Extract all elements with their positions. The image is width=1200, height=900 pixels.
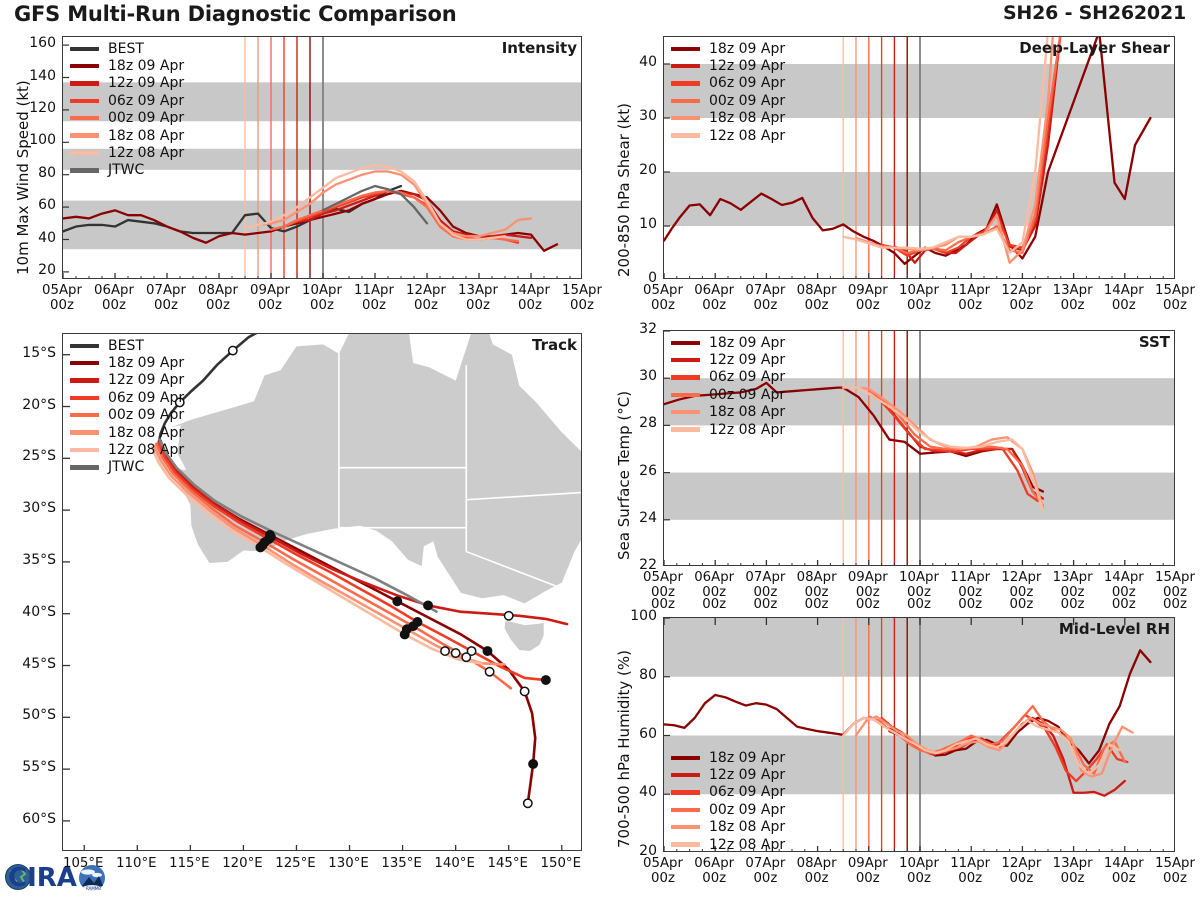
axis-tick-label: 06Apr00z	[686, 857, 742, 887]
track-marker-open	[441, 647, 449, 655]
axis-tick-label: 30°S	[4, 500, 56, 516]
shear-panel-label: Deep-Layer Shear	[1019, 39, 1170, 57]
axis-tick-label: 12Apr00z	[993, 857, 1049, 887]
axis-tick-label: 25°S	[4, 448, 56, 464]
legend-swatch	[70, 116, 99, 120]
legend-entry: 12z 09 Apr	[671, 766, 785, 783]
axis-tick-label: 00z	[848, 598, 888, 613]
legend-entry: 06z 09 Apr	[70, 92, 184, 109]
axis-tick-label: 00z	[1001, 598, 1041, 613]
legend-label: 12z 09 Apr	[108, 372, 184, 388]
rh-legend: 18z 09 Apr12z 09 Apr06z 09 Apr00z 09 Apr…	[671, 749, 785, 853]
legend-swatch	[671, 341, 700, 345]
track-marker-filled	[256, 543, 264, 551]
axis-tick-label: 11Apr00z	[942, 284, 998, 314]
axis-tick-label: 09Apr00z	[840, 284, 896, 314]
legend-label: 12z 09 Apr	[709, 767, 785, 783]
legend-swatch	[671, 133, 700, 137]
axis-tick-label: 40	[617, 54, 657, 70]
legend-label: 18z 08 Apr	[709, 404, 785, 420]
legend-label: 18z 09 Apr	[709, 750, 785, 766]
legend-entry: 18z 09 Apr	[671, 334, 785, 351]
axis-tick-label: 120°E	[214, 857, 270, 872]
legend-swatch	[671, 842, 700, 846]
axis-tick-label: 35°S	[4, 552, 56, 568]
axis-tick-label: 40	[617, 784, 657, 800]
axis-tick-label: 00z	[1104, 598, 1144, 613]
axis-tick-label: 40	[16, 230, 56, 246]
track-marker-filled	[401, 630, 409, 638]
axis-tick-label: 30	[617, 368, 657, 384]
legend-swatch	[671, 808, 700, 812]
page-title: GFS Multi-Run Diagnostic Comparison	[14, 2, 456, 26]
legend-entry: 06z 09 Apr	[671, 784, 785, 801]
legend-label: 12z 08 Apr	[108, 442, 184, 458]
axis-tick-label: 00z	[1155, 598, 1195, 613]
legend-swatch	[70, 99, 99, 103]
legend-entry: 12z 08 Apr	[671, 127, 785, 144]
legend-label: 00z 09 Apr	[108, 407, 184, 423]
legend-entry: 12z 08 Apr	[70, 144, 184, 161]
axis-tick-label: 60°S	[4, 811, 56, 827]
axis-tick-label: 00z	[694, 598, 734, 613]
legend-swatch	[671, 375, 700, 379]
panel-sst: SST 18z 09 Apr12z 09 Apr06z 09 Apr00z 09…	[663, 330, 1175, 566]
axis-tick-label: 110°E	[108, 857, 164, 872]
legend-entry: 18z 08 Apr	[671, 404, 785, 421]
legend-swatch	[671, 47, 700, 51]
legend-swatch	[70, 344, 99, 348]
axis-tick-label: 00z	[643, 598, 683, 613]
axis-tick-label: 80	[617, 667, 657, 683]
axis-tick-label: 12Apr00z	[398, 284, 454, 314]
track-marker-filled	[424, 601, 432, 609]
legend-label: 18z 09 Apr	[709, 335, 785, 351]
axis-tick-label: 13Apr00z	[1045, 857, 1101, 887]
axis-tick-label: 00z	[899, 598, 939, 613]
axis-tick-label: 20°S	[4, 397, 56, 413]
legend-entry: 12z 09 Apr	[70, 372, 184, 389]
axis-tick-label: 12Apr00z	[993, 284, 1049, 314]
legend-label: 00z 09 Apr	[709, 387, 785, 403]
rh-panel-label: Mid-Level RH	[1059, 620, 1170, 638]
legend-label: 00z 09 Apr	[709, 93, 785, 109]
legend-swatch	[70, 81, 99, 85]
track-marker-filled	[542, 676, 550, 684]
axis-tick-label: 24	[617, 510, 657, 526]
landmass	[171, 334, 582, 603]
legend-label: 18z 09 Apr	[709, 41, 785, 57]
axis-tick-label: 14Apr00z	[1096, 284, 1152, 314]
axis-tick-label: 10	[617, 216, 657, 232]
legend-entry: 00z 09 Apr	[70, 407, 184, 424]
legend-entry: 00z 09 Apr	[70, 110, 184, 127]
legend-label: 12z 08 Apr	[709, 128, 785, 144]
legend-label: 18z 09 Apr	[108, 355, 184, 371]
legend-label: JTWC	[108, 162, 144, 178]
legend-label: 12z 09 Apr	[709, 352, 785, 368]
axis-tick-label: 09Apr00z	[840, 857, 896, 887]
legend-swatch	[70, 413, 99, 417]
axis-tick-label: 05Apr00z	[34, 284, 90, 314]
legend-label: 12z 09 Apr	[709, 58, 785, 74]
axis-tick-label: 09Apr00z	[242, 284, 298, 314]
axis-tick-label: 13Apr00z	[450, 284, 506, 314]
legend-label: 06z 09 Apr	[108, 390, 184, 406]
legend-entry: 00z 09 Apr	[671, 92, 785, 109]
legend-label: 06z 09 Apr	[709, 75, 785, 91]
sst-legend: 18z 09 Apr12z 09 Apr06z 09 Apr00z 09 Apr…	[671, 334, 785, 438]
legend-swatch	[671, 790, 700, 794]
legend-label: 06z 09 Apr	[709, 784, 785, 800]
legend-entry: 12z 09 Apr	[671, 351, 785, 368]
intensity-legend: BEST18z 09 Apr12z 09 Apr06z 09 Apr00z 09…	[70, 40, 184, 179]
legend-swatch	[70, 378, 99, 382]
legend-entry: 12z 08 Apr	[70, 441, 184, 458]
legend-entry: BEST	[70, 337, 184, 354]
legend-entry: 12z 09 Apr	[671, 57, 785, 74]
axis-tick-label: 08Apr00z	[789, 857, 845, 887]
legend-label: 00z 09 Apr	[108, 110, 184, 126]
track-marker-filled	[393, 597, 401, 605]
axis-tick-label: 05Apr00z	[635, 857, 691, 887]
shear-legend: 18z 09 Apr12z 09 Apr06z 09 Apr00z 09 Apr…	[671, 40, 785, 144]
axis-tick-label: 05Apr00z	[635, 284, 691, 314]
axis-tick-label: 07Apr00z	[737, 857, 793, 887]
legend-entry: 06z 09 Apr	[671, 369, 785, 386]
legend-entry: 18z 08 Apr	[671, 819, 785, 836]
panel-rh: Mid-Level RH 18z 09 Apr12z 09 Apr06z 09 …	[663, 617, 1175, 852]
axis-tick-label: 10Apr00z	[891, 284, 947, 314]
legend-entry: 18z 09 Apr	[70, 354, 184, 371]
axis-tick-label: 32	[617, 321, 657, 337]
legend-entry: JTWC	[70, 162, 184, 179]
legend-swatch	[70, 396, 99, 400]
axis-tick-label: 20	[16, 262, 56, 278]
axis-tick-label: 28	[617, 415, 657, 431]
legend-label: 12z 08 Apr	[108, 145, 184, 161]
axis-tick-label: 115°E	[161, 857, 217, 872]
legend-label: 18z 08 Apr	[108, 128, 184, 144]
axis-tick-label: 00z	[745, 598, 785, 613]
legend-label: 18z 09 Apr	[108, 58, 184, 74]
storm-identifier: SH26 - SH262021	[1003, 2, 1186, 24]
legend-swatch	[671, 825, 700, 829]
track-marker-open	[462, 653, 470, 661]
panel-shear: Deep-Layer Shear 18z 09 Apr12z 09 Apr06z…	[663, 36, 1175, 279]
legend-swatch	[70, 64, 99, 68]
svg-text:RAMMB: RAMMB	[86, 886, 101, 891]
legend-label: 18z 08 Apr	[709, 819, 785, 835]
legend-entry: 18z 08 Apr	[70, 424, 184, 441]
axis-tick-label: 160	[16, 35, 56, 51]
track-marker-open	[520, 687, 528, 695]
axis-tick-label: 135°E	[374, 857, 430, 872]
axis-tick-label: 14Apr00z	[1096, 857, 1152, 887]
legend-label: 12z 09 Apr	[108, 75, 184, 91]
axis-tick-label: 30	[617, 108, 657, 124]
axis-tick-label: 140	[16, 68, 56, 84]
track-panel-label: Track	[532, 336, 577, 354]
landmass	[505, 621, 544, 651]
legend-entry: 18z 08 Apr	[70, 127, 184, 144]
axis-tick-label: 60	[16, 197, 56, 213]
axis-tick-label: 60	[617, 726, 657, 742]
legend-swatch	[70, 168, 99, 172]
panel-track: Track BEST18z 09 Apr12z 09 Apr06z 09 Apr…	[62, 333, 582, 851]
axis-tick-label: 40°S	[4, 604, 56, 620]
legend-swatch	[70, 151, 99, 155]
legend-swatch	[671, 81, 700, 85]
legend-swatch	[671, 410, 700, 414]
axis-tick-label: 130°E	[321, 857, 377, 872]
legend-swatch	[70, 448, 99, 452]
legend-label: BEST	[108, 41, 144, 57]
legend-label: JTWC	[108, 459, 144, 475]
legend-swatch	[671, 427, 700, 431]
axis-tick-label: 80	[16, 165, 56, 181]
track-marker-open	[524, 799, 532, 807]
axis-tick-label: 140°E	[427, 857, 483, 872]
axis-tick-label: 13Apr00z	[1045, 284, 1101, 314]
legend-label: 18z 08 Apr	[709, 110, 785, 126]
axis-tick-label: 26	[617, 463, 657, 479]
legend-entry: 18z 08 Apr	[671, 110, 785, 127]
track-marker-open	[451, 649, 459, 657]
panel-intensity: Intensity BEST18z 09 Apr12z 09 Apr06z 09…	[62, 36, 582, 279]
legend-entry: 18z 09 Apr	[671, 40, 785, 57]
axis-tick-label: 08Apr00z	[789, 284, 845, 314]
legend-entry: 00z 09 Apr	[671, 386, 785, 403]
legend-label: 18z 08 Apr	[108, 425, 184, 441]
legend-label: 12z 08 Apr	[709, 837, 785, 853]
axis-tick-label: 20	[617, 162, 657, 178]
legend-swatch	[671, 99, 700, 103]
axis-tick-label: 15Apr00z	[554, 284, 610, 314]
axis-tick-label: 15°S	[4, 345, 56, 361]
track-marker-open	[485, 668, 493, 676]
axis-tick-label: 10Apr00z	[891, 857, 947, 887]
axis-tick-label: 00z	[950, 598, 990, 613]
legend-entry: 12z 08 Apr	[671, 421, 785, 438]
track-marker-filled	[529, 760, 537, 768]
legend-label: 06z 09 Apr	[709, 369, 785, 385]
axis-tick-label: 45°S	[4, 656, 56, 672]
diagnostic-page: GFS Multi-Run Diagnostic Comparison SH26…	[0, 0, 1200, 900]
legend-entry: 18z 09 Apr	[70, 57, 184, 74]
legend-swatch	[70, 47, 99, 51]
legend-swatch	[671, 116, 700, 120]
axis-tick-label: 15Apr00z	[1147, 857, 1200, 887]
axis-tick-label: 07Apr00z	[737, 284, 793, 314]
legend-label: 06z 09 Apr	[108, 93, 184, 109]
track-marker-filled	[483, 647, 491, 655]
legend-label: 00z 09 Apr	[709, 802, 785, 818]
cira-logo: CIRA RAMMB	[4, 855, 112, 897]
axis-tick-label: 07Apr00z	[138, 284, 194, 314]
axis-tick-label: 00z	[797, 598, 837, 613]
shear-y-axis-label: 200-850 hPa Shear (kt)	[615, 103, 633, 277]
legend-entry: JTWC	[70, 459, 184, 476]
axis-tick-label: 100	[16, 132, 56, 148]
legend-swatch	[671, 756, 700, 760]
legend-swatch	[671, 393, 700, 397]
axis-tick-label: 00z	[1053, 598, 1093, 613]
axis-tick-label: 11Apr00z	[942, 857, 998, 887]
sst-panel-label: SST	[1139, 333, 1170, 351]
axis-tick-label: 14Apr00z	[502, 284, 558, 314]
axis-tick-label: 125°E	[267, 857, 323, 872]
legend-entry: 12z 09 Apr	[70, 75, 184, 92]
axis-tick-label: 120	[16, 100, 56, 116]
legend-entry: 00z 09 Apr	[671, 801, 785, 818]
legend-swatch	[70, 430, 99, 434]
track-marker-open	[229, 346, 237, 354]
legend-swatch	[70, 465, 99, 469]
legend-entry: 18z 09 Apr	[671, 749, 785, 766]
legend-entry: 06z 09 Apr	[671, 75, 785, 92]
legend-entry: 12z 08 Apr	[671, 836, 785, 853]
legend-entry: BEST	[70, 40, 184, 57]
track-marker-open	[505, 612, 513, 620]
svg-text:CIRA: CIRA	[8, 863, 77, 893]
legend-label: BEST	[108, 338, 144, 354]
axis-tick-label: 145°E	[480, 857, 536, 872]
legend-swatch	[671, 64, 700, 68]
axis-tick-label: 50°S	[4, 707, 56, 723]
intensity-panel-label: Intensity	[502, 39, 577, 57]
axis-tick-label: 08Apr00z	[190, 284, 246, 314]
legend-swatch	[70, 133, 99, 137]
legend-label: 12z 08 Apr	[709, 422, 785, 438]
track-legend: BEST18z 09 Apr12z 09 Apr06z 09 Apr00z 09…	[70, 337, 184, 476]
axis-tick-label: 06Apr00z	[686, 284, 742, 314]
axis-tick-label: 06Apr00z	[86, 284, 142, 314]
axis-tick-label: 15Apr00z	[1147, 284, 1200, 314]
axis-tick-label: 150°E	[533, 857, 589, 872]
axis-tick-label: 11Apr00z	[346, 284, 402, 314]
axis-tick-label: 10Apr00z	[294, 284, 350, 314]
legend-entry: 06z 09 Apr	[70, 389, 184, 406]
legend-swatch	[70, 361, 99, 365]
legend-swatch	[671, 358, 700, 362]
legend-swatch	[671, 773, 700, 777]
axis-tick-label: 55°S	[4, 759, 56, 775]
